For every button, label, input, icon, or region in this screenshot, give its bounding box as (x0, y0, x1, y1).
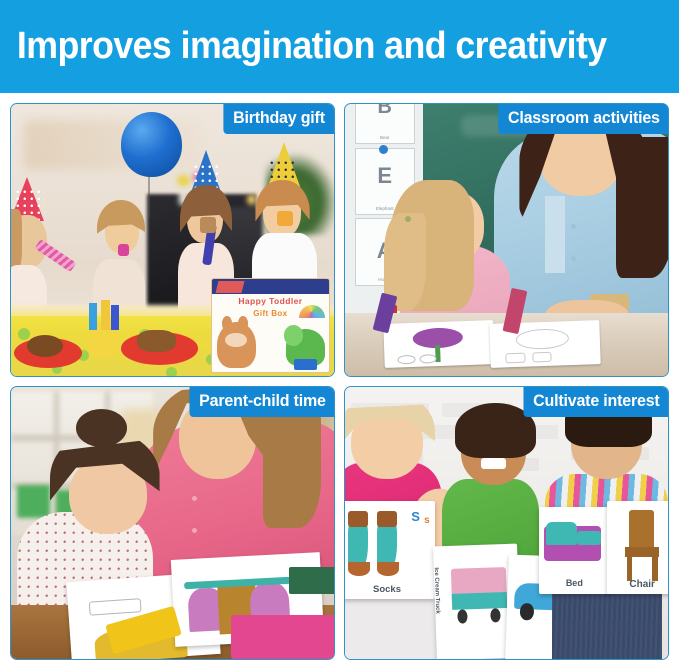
panel-badge-classroom-activities: Classroom activities (498, 104, 668, 134)
photo-three-children: S s Socks Ice Cream Truck (345, 387, 668, 659)
flashcard-socks-label: Socks (345, 584, 435, 595)
panel-classroom-activities[interactable]: B Bear E Elephant A House (344, 103, 669, 377)
panel-grid: Happy Toddler Gift Box Birthday gift (10, 103, 669, 660)
panel-cultivate-interest[interactable]: S s Socks Ice Cream Truck (344, 386, 669, 660)
flashcard-chair: Chair (607, 501, 668, 593)
panel-badge-parent-child-time: Parent-child time (189, 387, 334, 417)
flashcard-socks: S s Socks (345, 501, 435, 599)
gift-box-card: Happy Toddler Gift Box (211, 278, 329, 372)
activity-book-left-page (383, 320, 494, 367)
product-infographic: Improves imagination and creativity (0, 0, 679, 669)
flashcard-chair-label: Chair (607, 579, 668, 590)
alphabet-poster-b: B Bear (355, 104, 415, 144)
panel-badge-cultivate-interest: Cultivate interest (523, 387, 668, 417)
flashcard-bed-label: Bed (539, 578, 610, 588)
panel-badge-birthday-gift: Birthday gift (224, 104, 334, 134)
panel-parent-child-time[interactable]: Parent-child time (10, 386, 335, 660)
page-title: Improves imagination and creativity (0, 25, 607, 68)
flashcard-bed: Bed (539, 507, 610, 594)
header-banner: Improves imagination and creativity (0, 0, 679, 93)
photo-classroom: B Bear E Elephant A House (345, 104, 668, 376)
photo-parent-child (11, 387, 334, 659)
flashcard-truck-label: Ice Cream Truck (433, 567, 440, 614)
photo-birthday-party: Happy Toddler Gift Box (11, 104, 334, 376)
panel-birthday-gift[interactable]: Happy Toddler Gift Box Birthday gift (10, 103, 335, 377)
